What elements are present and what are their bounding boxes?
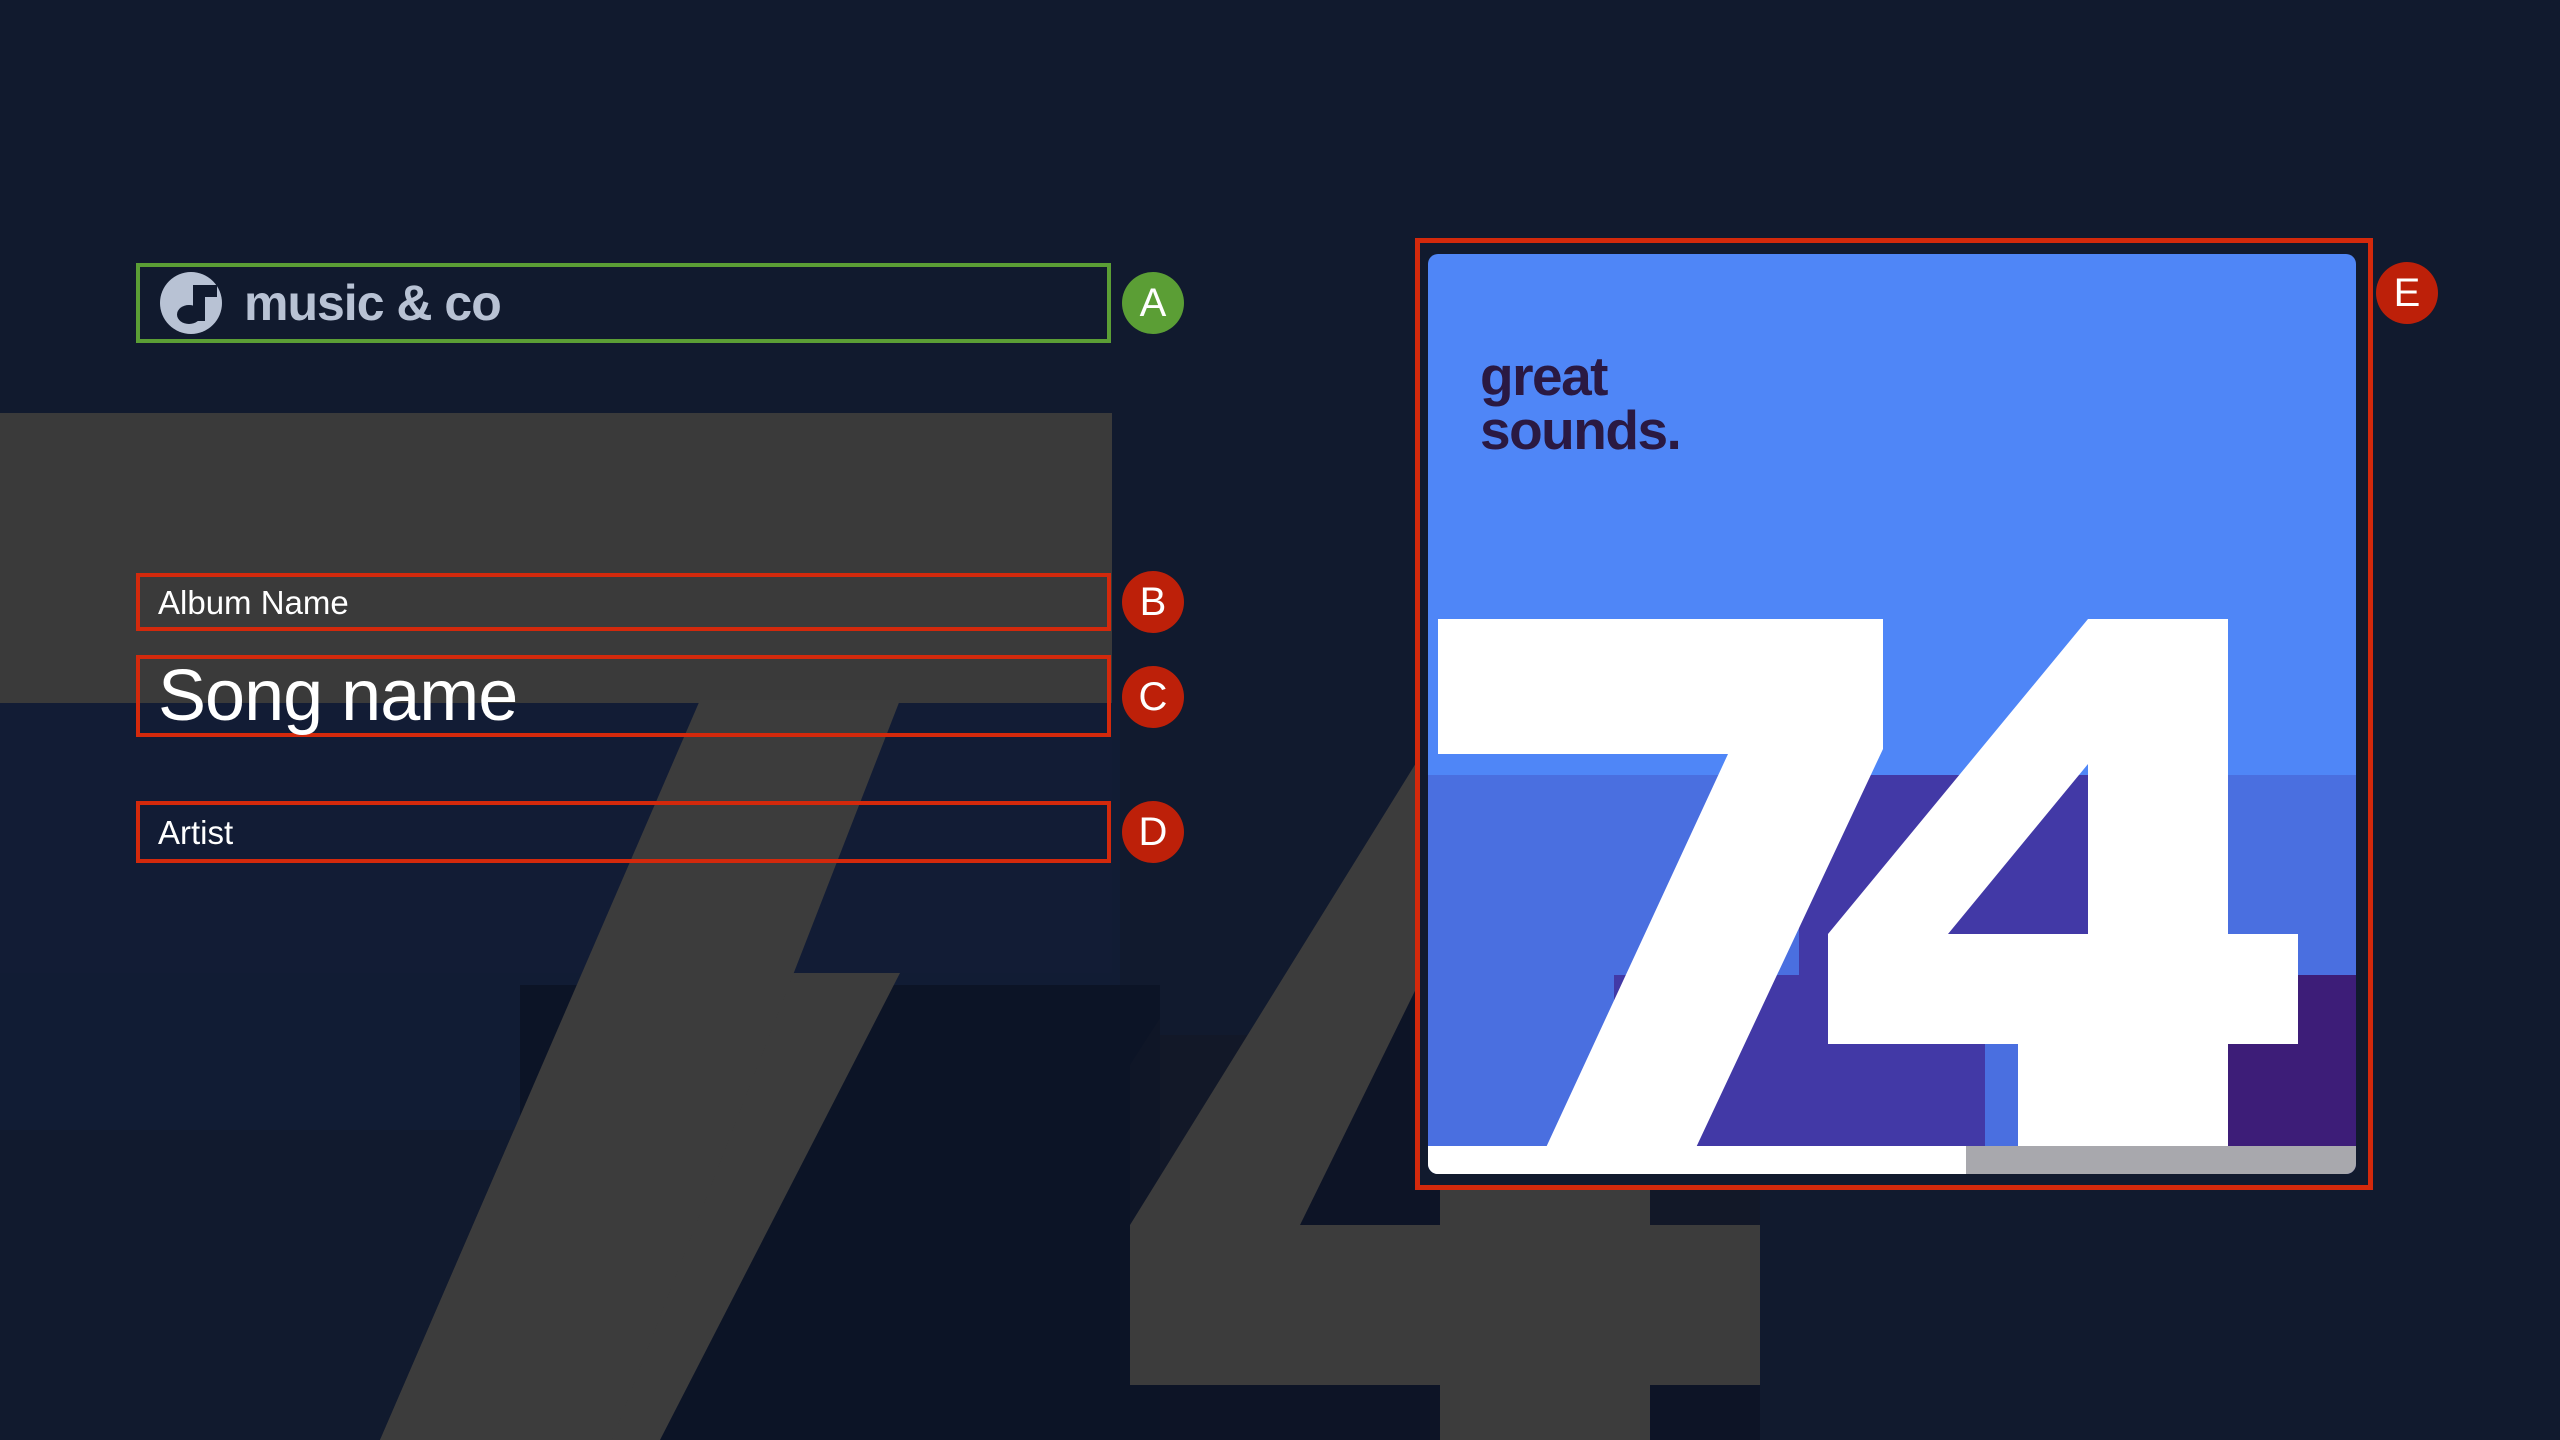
album-art-grid-cell: [2170, 576, 2356, 775]
album-art-grid-cell: [1428, 576, 1614, 775]
annotation-badge-a: A: [1122, 272, 1184, 334]
brand-name: music & co: [244, 278, 501, 328]
album-art-color-grid: [1428, 576, 2356, 1174]
annotation-badge-c: C: [1122, 666, 1184, 728]
album-name-field[interactable]: Album Name: [136, 573, 1111, 631]
album-art-grid-cell: [1985, 975, 2171, 1174]
album-art-grid-cell: [1428, 975, 1614, 1174]
album-art[interactable]: great sounds.: [1428, 254, 2356, 1174]
album-name-text: Album Name: [158, 586, 349, 619]
annotation-badge-e: E: [2376, 262, 2438, 324]
song-name-text: Song name: [158, 660, 517, 732]
album-art-grid-cell: [1985, 775, 2171, 974]
artist-name-field[interactable]: Artist: [136, 801, 1111, 863]
annotation-badge-b: B: [1122, 571, 1184, 633]
artist-name-text: Artist: [158, 816, 233, 849]
album-art-grid-cell: [2170, 975, 2356, 1174]
album-art-grid-cell: [2170, 775, 2356, 974]
album-art-grid-cell: [1799, 576, 1985, 775]
album-art-progress-fill: [1428, 1146, 1966, 1174]
album-art-caption: great sounds.: [1480, 350, 1680, 458]
album-art-grid-cell: [1799, 975, 1985, 1174]
album-art-grid-cell: [1614, 975, 1800, 1174]
album-art-progress-bar[interactable]: [1428, 1146, 2356, 1174]
album-art-grid-cell: [1614, 775, 1800, 974]
album-art-grid-cell: [1985, 576, 2171, 775]
album-art-grid-cell: [1428, 775, 1614, 974]
brand-logo[interactable]: music & co: [136, 263, 1111, 343]
annotation-badge-d: D: [1122, 801, 1184, 863]
music-note-icon: [160, 272, 222, 334]
album-art-caption-line1: great: [1480, 350, 1680, 404]
song-name-field[interactable]: Song name: [136, 655, 1111, 737]
album-art-grid-cell: [1799, 775, 1985, 974]
album-art-caption-line2: sounds.: [1480, 404, 1680, 458]
album-art-grid-cell: [1614, 576, 1800, 775]
